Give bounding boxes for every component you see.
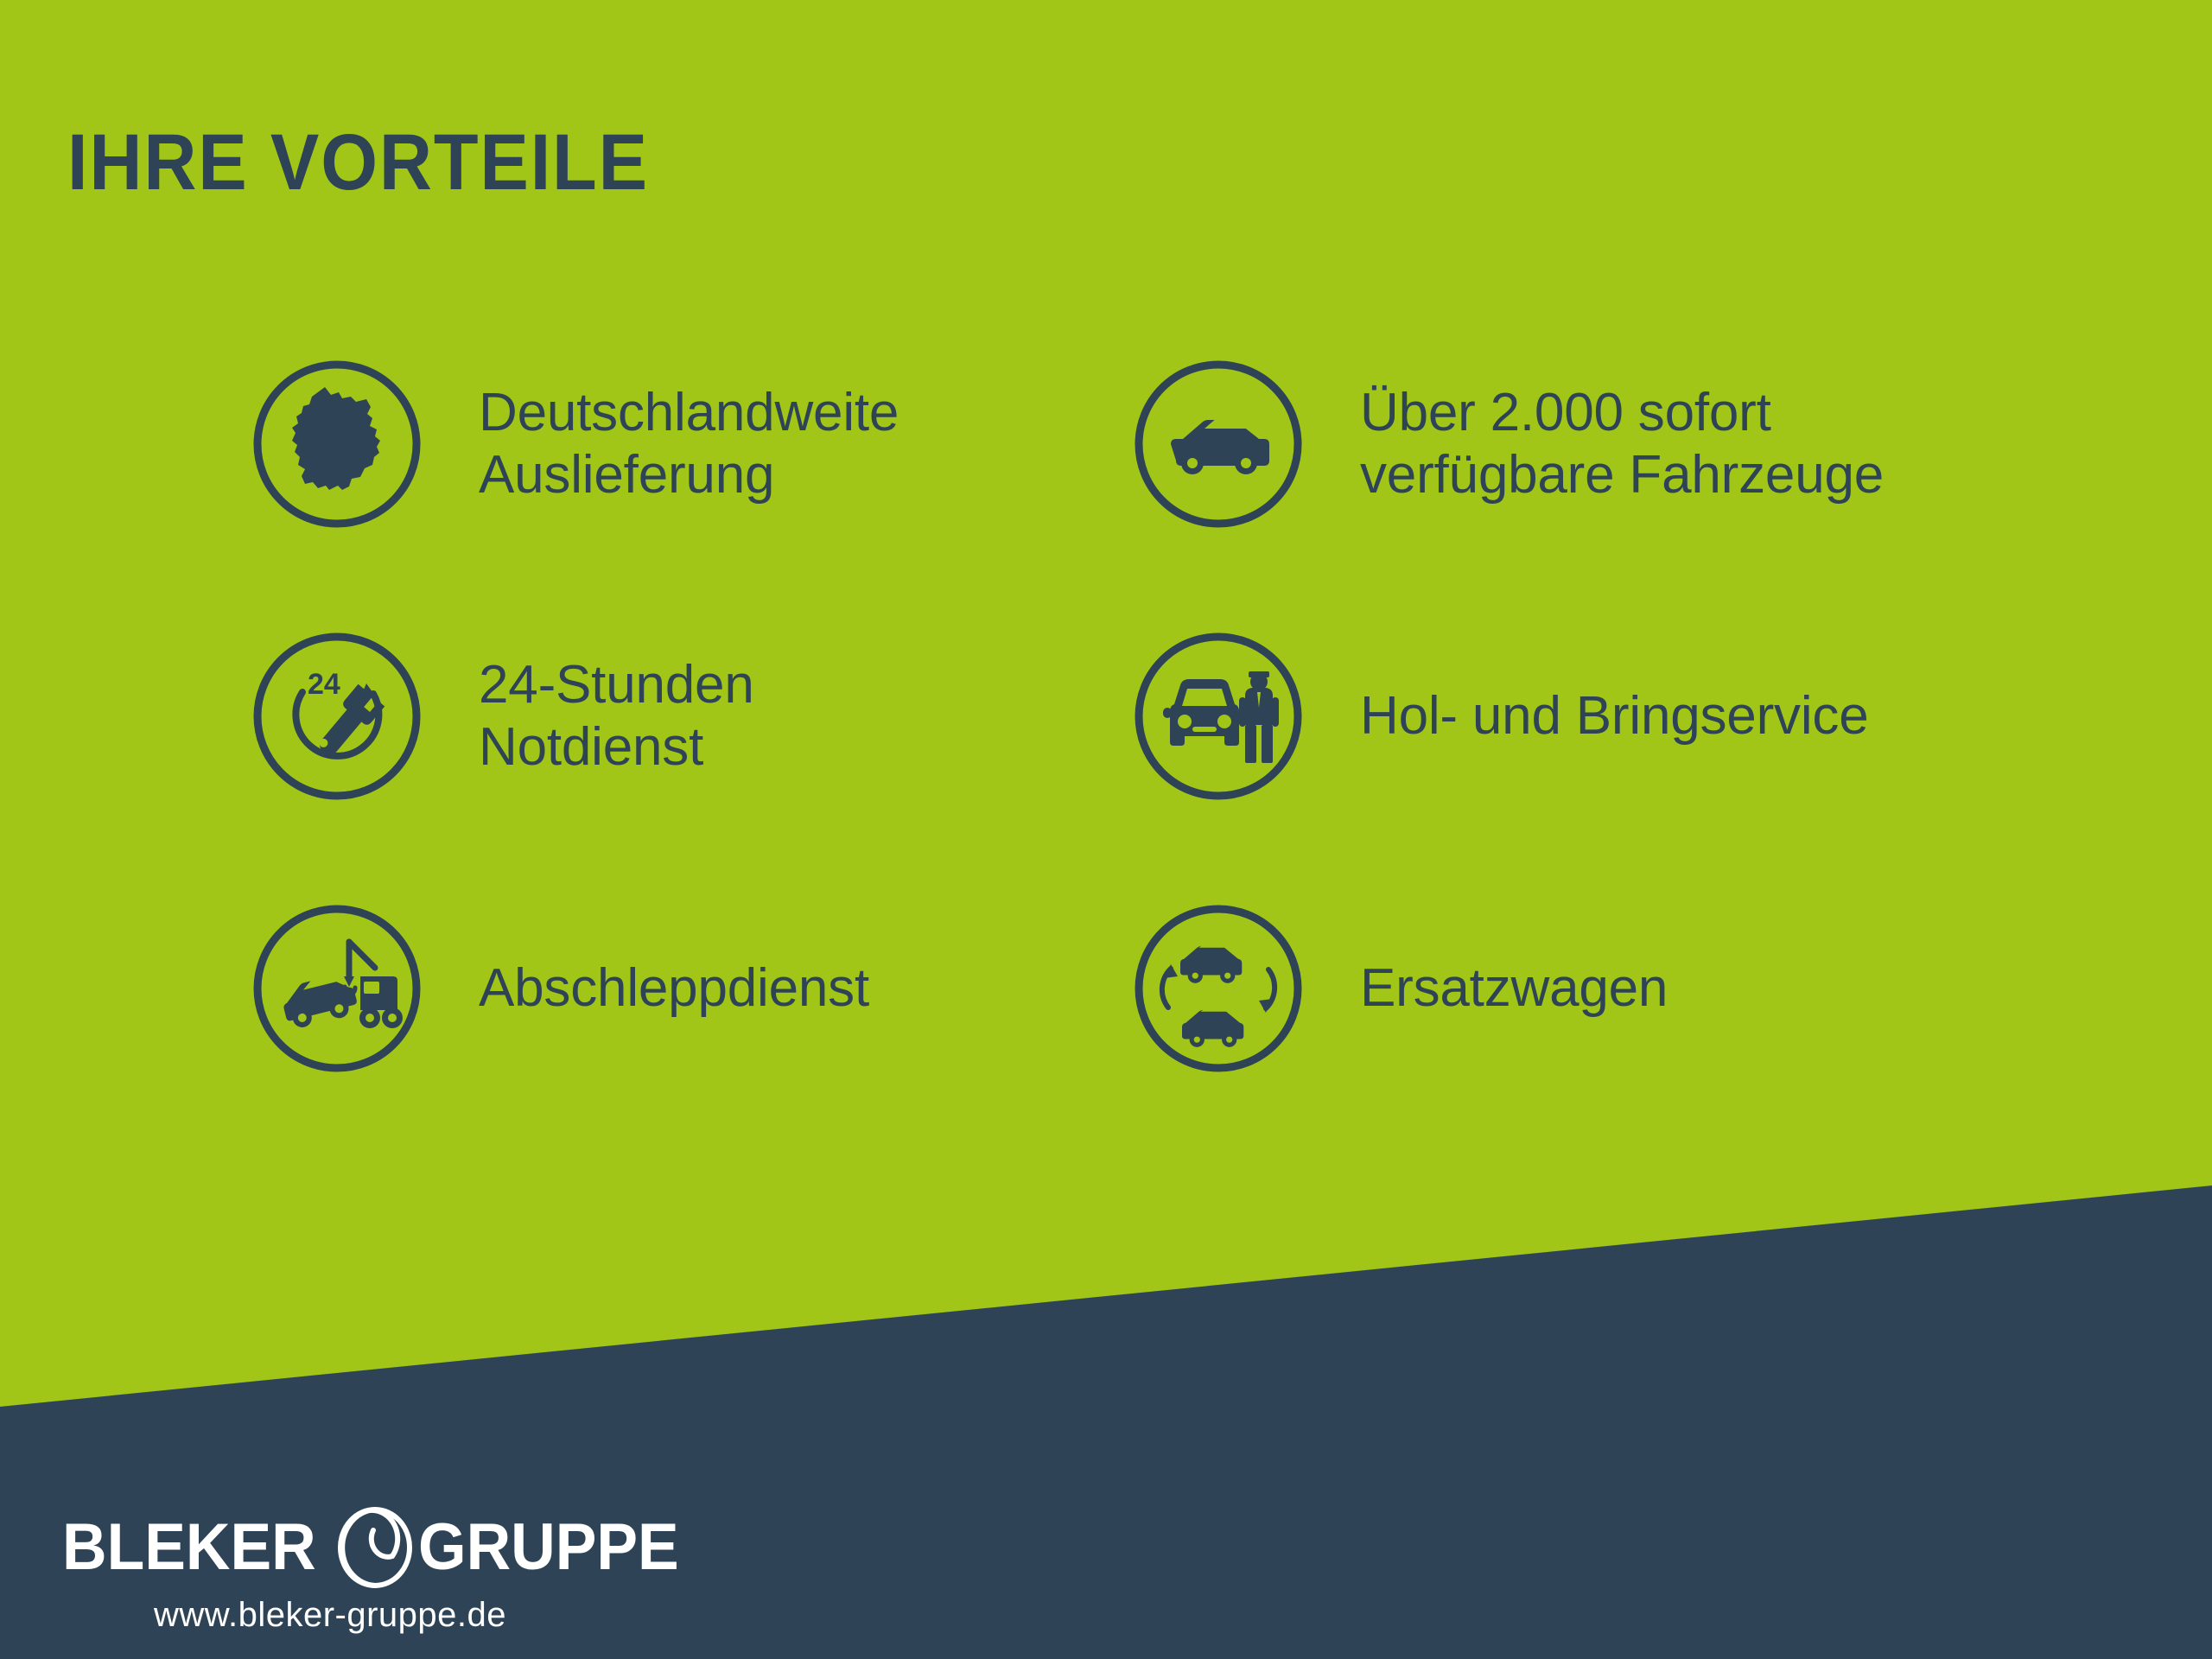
page-title: IHRE VORTEILE (67, 123, 649, 202)
logo-wordmark: BLEKER GRUPPE (62, 1508, 650, 1587)
24-hour-wrench-icon: 24 (249, 628, 425, 804)
benefit-item-ersatzwagen: Ersatzwagen (1130, 900, 1668, 1077)
benefit-item-24-stunden-notdienst: 24 24-Stunden Notdienst (249, 628, 754, 804)
benefit-label: 24-Stunden Notdienst (479, 654, 754, 779)
benefit-label: Ersatzwagen (1360, 957, 1668, 1020)
green-background-panel (0, 0, 2212, 1659)
benefit-item-abschleppdienst: Abschleppdienst (249, 900, 869, 1077)
benefit-item-hol-und-bringservice: Hol- und Bringservice (1130, 628, 1869, 804)
logo-website-url: www.bleker-gruppe.de (62, 1596, 598, 1635)
slide-canvas: IHRE VORTEILE Deutschlandweite Ausliefer… (0, 0, 2212, 1659)
benefit-label: Abschleppdienst (479, 957, 869, 1020)
tow-truck-icon (249, 900, 425, 1077)
two-cars-exchange-icon (1130, 900, 1306, 1077)
spiral-swirl-icon (334, 1506, 416, 1589)
germany-map-icon (249, 356, 425, 532)
car-with-driver-icon (1130, 628, 1306, 804)
car-side-icon (1130, 356, 1306, 532)
logo-text-bleker: BLEKER (62, 1515, 316, 1580)
benefit-item-deutschlandweite-auslieferung: Deutschlandweite Auslieferung (249, 356, 899, 532)
benefit-item-verfuegbare-fahrzeuge: Über 2.000 sofort verfügbare Fahrzeuge (1130, 356, 1884, 532)
benefit-label: Hol- und Bringservice (1360, 685, 1869, 747)
benefit-label: Deutschlandweite Auslieferung (479, 382, 899, 506)
benefit-label: Über 2.000 sofort verfügbare Fahrzeuge (1360, 382, 1884, 506)
svg-text:24: 24 (308, 668, 340, 701)
logo-text-gruppe: GRUPPE (418, 1515, 679, 1580)
footer-logo-block: BLEKER GRUPPE www.bleker-gruppe.de (62, 1508, 650, 1635)
